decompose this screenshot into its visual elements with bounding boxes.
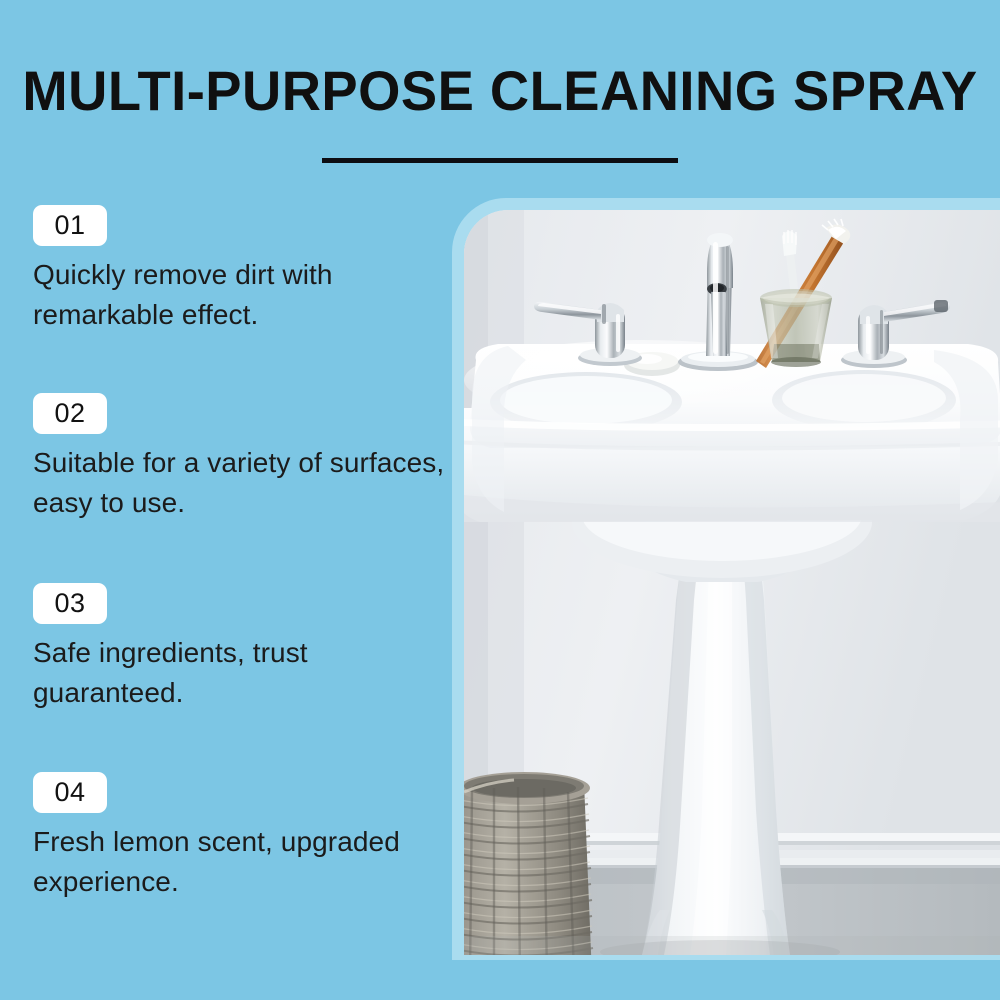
- feature-number-badge: 01: [33, 205, 107, 246]
- page-title: MULTI-PURPOSE CLEANING SPRAY: [15, 58, 985, 124]
- list-item: 04 Fresh lemon scent, upgraded experienc…: [33, 772, 453, 902]
- poster-canvas: MULTI-PURPOSE CLEANING SPRAY 01 Quickly …: [0, 0, 1000, 1000]
- bathroom-sink-illustration: [464, 210, 1000, 955]
- feature-description: Fresh lemon scent, upgraded experience.: [33, 822, 445, 902]
- wicker-basket: [464, 761, 593, 955]
- feature-description: Safe ingredients, trust guaranteed.: [33, 633, 445, 713]
- list-item: 01 Quickly remove dirt with remarkable e…: [33, 205, 453, 335]
- feature-number-badge: 02: [33, 393, 107, 434]
- feature-description: Suitable for a variety of surfaces, easy…: [33, 443, 445, 523]
- list-item: 02 Suitable for a variety of surfaces, e…: [33, 393, 453, 523]
- feature-number-badge: 03: [33, 583, 107, 624]
- title-divider: [322, 158, 678, 163]
- feature-number-badge: 04: [33, 772, 107, 813]
- list-item: 03 Safe ingredients, trust guaranteed.: [33, 583, 453, 713]
- feature-description: Quickly remove dirt with remarkable effe…: [33, 255, 445, 335]
- product-photo: [464, 210, 1000, 955]
